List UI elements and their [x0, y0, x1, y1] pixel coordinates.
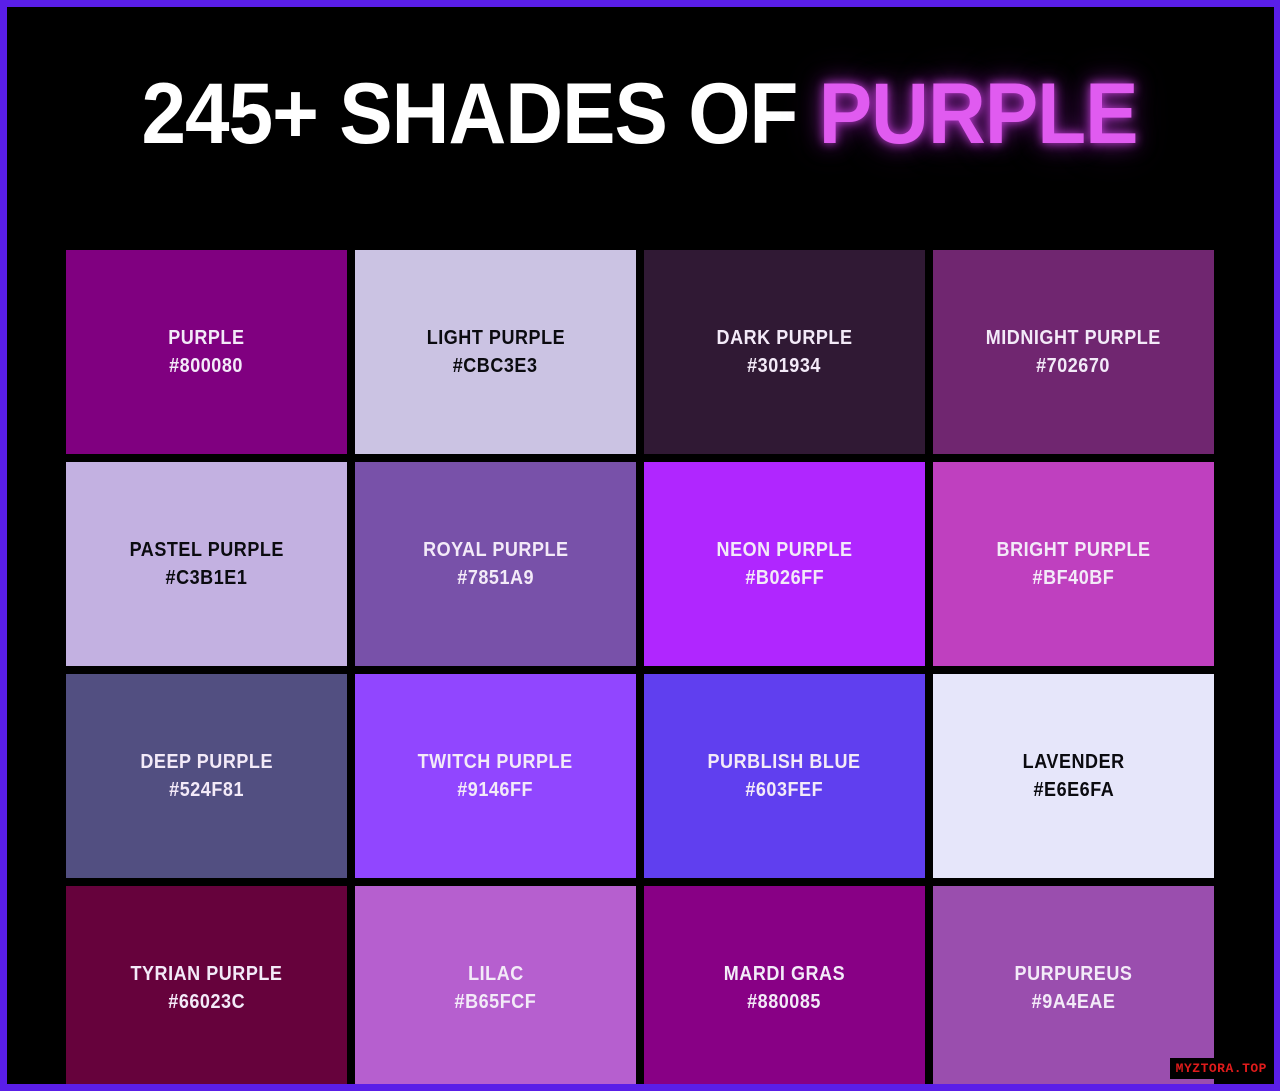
swatch-hex-code: #603FEF	[746, 776, 824, 804]
swatch-name: BRIGHT PURPLE	[996, 536, 1150, 564]
color-swatch[interactable]: PASTEL PURPLE#C3B1E1	[66, 462, 347, 666]
color-swatch[interactable]: TWITCH PURPLE#9146FF	[355, 674, 636, 878]
swatch-hex-code: #9A4EAE	[1032, 988, 1116, 1016]
swatch-name: TWITCH PURPLE	[418, 748, 573, 776]
swatch-hex-code: #66023C	[168, 988, 245, 1016]
swatch-hex-code: #800080	[170, 352, 244, 380]
infographic-canvas: 245+ SHADES OF PURPLE PURPLE#800080LIGHT…	[0, 0, 1280, 1091]
swatch-name: LILAC	[468, 960, 524, 988]
swatch-hex-code: #9146FF	[458, 776, 534, 804]
swatch-name: PURBLISH BLUE	[708, 748, 861, 776]
page-title: 245+ SHADES OF PURPLE	[0, 72, 1280, 156]
swatch-hex-code: #301934	[748, 352, 822, 380]
frame-border-top	[0, 0, 1280, 7]
color-swatch[interactable]: LIGHT PURPLE#CBC3E3	[355, 250, 636, 454]
swatch-hex-code: #7851A9	[457, 564, 534, 592]
swatch-hex-code: #E6E6FA	[1033, 776, 1114, 804]
color-swatch[interactable]: MARDI GRAS#880085	[644, 886, 925, 1090]
swatch-hex-code: #524F81	[169, 776, 244, 804]
swatch-hex-code: #C3B1E1	[166, 564, 248, 592]
title-highlight: PURPLE	[819, 66, 1138, 162]
swatch-name: MARDI GRAS	[724, 960, 845, 988]
color-swatch-grid: PURPLE#800080LIGHT PURPLE#CBC3E3DARK PUR…	[66, 250, 1214, 1090]
swatch-name: DEEP PURPLE	[140, 748, 273, 776]
watermark: MYZTORA.TOP	[1170, 1058, 1272, 1079]
swatch-name: PASTEL PURPLE	[129, 536, 283, 564]
swatch-name: MIDNIGHT PURPLE	[986, 324, 1161, 352]
swatch-name: PURPLE	[168, 324, 244, 352]
swatch-name: NEON PURPLE	[717, 536, 853, 564]
swatch-hex-code: #702670	[1037, 352, 1111, 380]
swatch-hex-code: #CBC3E3	[453, 352, 538, 380]
color-swatch[interactable]: PURBLISH BLUE#603FEF	[644, 674, 925, 878]
color-swatch[interactable]: PURPLE#800080	[66, 250, 347, 454]
swatch-name: PURPUREUS	[1015, 960, 1133, 988]
swatch-hex-code: #880085	[748, 988, 822, 1016]
color-swatch[interactable]: DARK PURPLE#301934	[644, 250, 925, 454]
swatch-hex-code: #BF40BF	[1033, 564, 1115, 592]
frame-border-bottom	[0, 1084, 1280, 1091]
color-swatch[interactable]: LILAC#B65FCF	[355, 886, 636, 1090]
color-swatch[interactable]: ROYAL PURPLE#7851A9	[355, 462, 636, 666]
swatch-name: DARK PURPLE	[717, 324, 853, 352]
swatch-name: TYRIAN PURPLE	[130, 960, 282, 988]
color-swatch[interactable]: LAVENDER#E6E6FA	[933, 674, 1214, 878]
swatch-name: LIGHT PURPLE	[426, 324, 564, 352]
color-swatch[interactable]: NEON PURPLE#B026FF	[644, 462, 925, 666]
color-swatch[interactable]: MIDNIGHT PURPLE#702670	[933, 250, 1214, 454]
swatch-name: LAVENDER	[1022, 748, 1124, 776]
color-swatch[interactable]: TYRIAN PURPLE#66023C	[66, 886, 347, 1090]
title-prefix: 245+ SHADES OF	[142, 66, 819, 162]
frame-border-left	[0, 0, 7, 1091]
color-swatch[interactable]: BRIGHT PURPLE#BF40BF	[933, 462, 1214, 666]
swatch-hex-code: #B65FCF	[455, 988, 537, 1016]
swatch-hex-code: #B026FF	[745, 564, 824, 592]
swatch-name: ROYAL PURPLE	[423, 536, 569, 564]
color-swatch[interactable]: DEEP PURPLE#524F81	[66, 674, 347, 878]
frame-border-right	[1274, 0, 1280, 1091]
